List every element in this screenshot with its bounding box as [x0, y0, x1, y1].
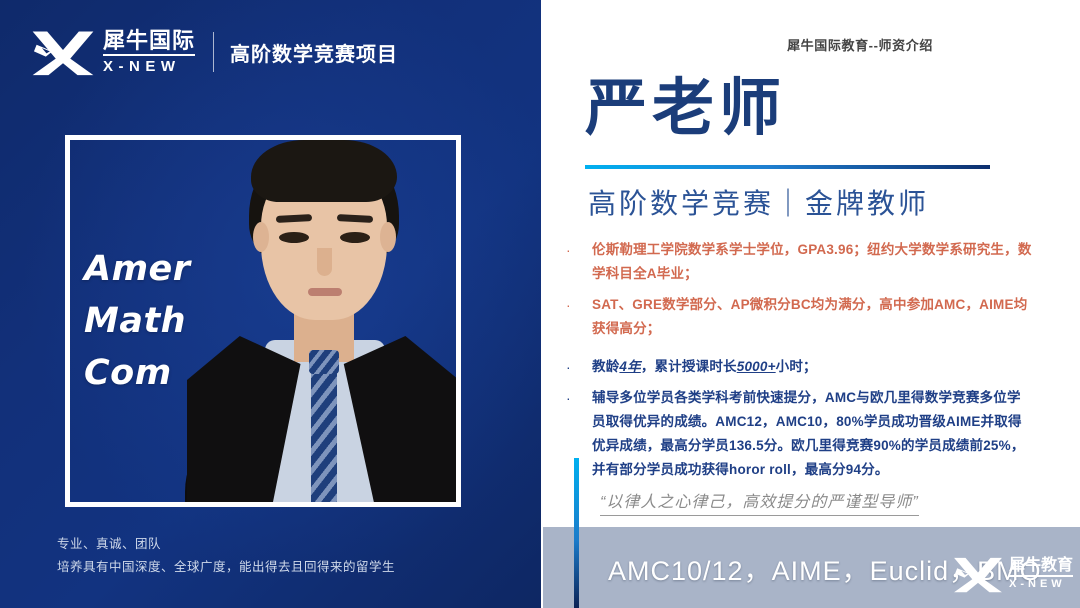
watermark-line-1: Amer [84, 244, 191, 296]
bullet-marker: · [566, 386, 592, 482]
slide-root: 犀牛国际 X-NEW 高阶数学竞赛项目 Amer Math Com [0, 0, 1080, 608]
teacher-portrait [193, 140, 453, 502]
program-tag: 高阶数学竞赛项目 [230, 38, 398, 67]
left-footer-text: 专业、真诚、团队 培养具有中国深度、全球广度，能出得去且回得来的留学生 [57, 533, 395, 579]
list-item: · SAT、GRE数学部分、AP微积分BC均为满分，高中参加AMC，AIME均获… [566, 293, 1034, 341]
accent-vertical-bar [574, 458, 579, 608]
teacher-subtitle: 高阶数学竞赛｜金牌教师 [588, 182, 929, 222]
watermark-line-3: Com [84, 348, 191, 400]
portrait-frame: Amer Math Com [65, 135, 461, 507]
portrait-eye-right [340, 232, 370, 243]
bullet-marker: · [566, 355, 592, 379]
bullet-text-mid: ，累计授课时长 [641, 359, 737, 374]
bullet-text-post: 小时； [776, 359, 817, 374]
watermark-line-2: Math [84, 296, 191, 348]
teacher-quote: “以律人之心律己，高效提分的严谨型导师” [600, 488, 919, 516]
bullet-text: 辅导多位学员各类学科考前快速提分，AMC与欧几里得数学竞赛多位学员取得优异的成绩… [592, 386, 1034, 482]
title-underline-rule [585, 165, 990, 169]
list-item: · 伦斯勒理工学院数学系学士学位，GPA3.96；纽约大学数学系研究生，数学科目… [566, 238, 1034, 286]
logo-cn-text: 犀牛国际 [103, 30, 195, 56]
rhino-x-logo-icon [952, 553, 1004, 595]
portrait-image: Amer Math Com [70, 140, 456, 502]
portrait-mouth [308, 288, 342, 296]
bullet-text: 教龄4年，累计授课时长5000+小时； [592, 355, 1034, 379]
portrait-ear-right [380, 222, 396, 252]
bullet-emphasis-years: 4年 [619, 359, 640, 374]
page-header-label: 犀牛国际教育--师资介绍 [787, 35, 933, 54]
logo-en-text: X-NEW [103, 59, 195, 74]
brand-logo-header: 犀牛国际 X-NEW 高阶数学竞赛项目 [30, 26, 398, 78]
portrait-watermark: Amer Math Com [84, 244, 191, 399]
teacher-name: 严老师 [585, 78, 786, 140]
portrait-nose [317, 248, 332, 276]
logo-wordmark: 犀牛国际 X-NEW [103, 30, 195, 74]
portrait-eye-left [279, 232, 309, 243]
footer-logo-cn-text: 犀牛教育 [1009, 558, 1073, 577]
bullet-emphasis-hours: 5000+ [737, 359, 776, 374]
bullet-text-pre: 教龄 [592, 359, 619, 374]
bullet-marker: · [566, 238, 592, 286]
portrait-tie-knot [309, 350, 339, 374]
list-item: · 辅导多位学员各类学科考前快速提分，AMC与欧几里得数学竞赛多位学员取得优异的… [566, 386, 1034, 482]
brand-logo-footer: 犀牛教育 X-NEW [952, 553, 1073, 595]
bullet-marker: · [566, 293, 592, 341]
credential-list: · 伦斯勒理工学院数学系学士学位，GPA3.96；纽约大学数学系研究生，数学科目… [566, 238, 1034, 489]
bullet-text: 伦斯勒理工学院数学系学士学位，GPA3.96；纽约大学数学系研究生，数学科目全A… [592, 238, 1034, 286]
portrait-ear-left [253, 222, 269, 252]
footer-logo-en-text: X-NEW [1009, 579, 1073, 590]
bullet-text: SAT、GRE数学部分、AP微积分BC均为满分，高中参加AMC，AIME均获得高… [592, 293, 1034, 341]
portrait-fringe [251, 140, 397, 202]
portrait-tie [311, 358, 337, 502]
rhino-x-logo-icon [30, 26, 96, 78]
left-footer-line-2: 培养具有中国深度、全球广度，能出得去且回得来的留学生 [57, 556, 395, 579]
list-item: · 教龄4年，累计授课时长5000+小时； [566, 355, 1034, 379]
footer-logo-wordmark: 犀牛教育 X-NEW [1009, 558, 1073, 590]
logo-divider [213, 32, 214, 72]
left-footer-line-1: 专业、真诚、团队 [57, 533, 395, 556]
